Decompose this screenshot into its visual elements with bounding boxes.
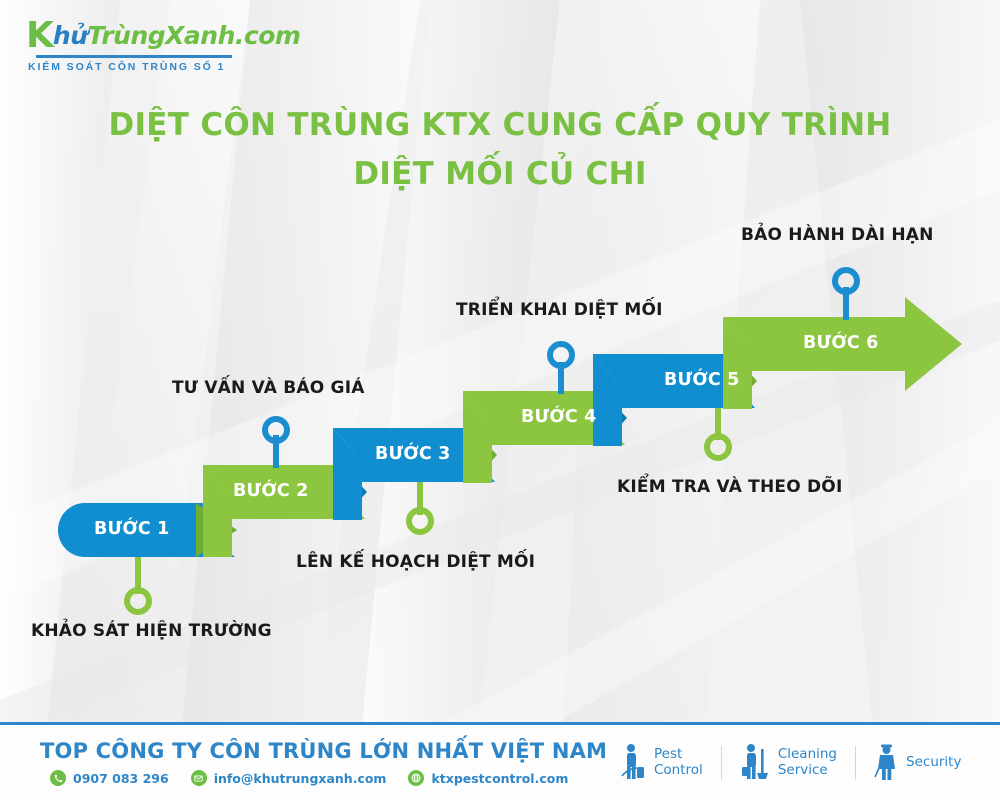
contact-phone[interactable]: 0907 083 296 bbox=[50, 770, 169, 786]
title-line-1: DIỆT CÔN TRÙNG KTX CUNG CẤP QUY TRÌNH bbox=[0, 101, 1000, 150]
title-line-2: DIỆT MỐI CỦ CHI bbox=[0, 150, 1000, 199]
footer-bar: TOP CÔNG TY CÔN TRÙNG LỚN NHẤT VIỆT NAM … bbox=[0, 722, 1000, 800]
footer-left-block: TOP CÔNG TY CÔN TRÙNG LỚN NHẤT VIỆT NAM … bbox=[0, 739, 600, 786]
step-6-pin bbox=[835, 270, 857, 320]
logo-letter-k: K bbox=[26, 15, 53, 56]
step-2-pin bbox=[265, 419, 287, 468]
security-label: Security bbox=[906, 755, 961, 771]
contact-website[interactable]: ktxpestcontrol.com bbox=[408, 770, 568, 786]
logo-part-hu: hử bbox=[53, 21, 88, 50]
logo-tagline: KIỂM SOÁT CÔN TRÙNG SỐ 1 bbox=[28, 61, 300, 73]
service-cleaning[interactable]: CleaningService bbox=[722, 743, 855, 783]
step-5-caption: KIỂM TRA VÀ THEO DÕI bbox=[617, 477, 842, 497]
contact-email[interactable]: info@khutrungxanh.com bbox=[191, 770, 387, 786]
step-5-pin bbox=[707, 408, 729, 458]
step-2-label: BƯỚC 2 bbox=[233, 481, 309, 501]
website-url: ktxpestcontrol.com bbox=[431, 771, 568, 786]
security-icon bbox=[874, 743, 900, 783]
footer-contacts: 0907 083 296 info@khutrungxanh.com ktxpe… bbox=[40, 770, 600, 786]
service-security[interactable]: Security bbox=[856, 743, 979, 783]
step-4-caption: TRIỂN KHAI DIỆT MỐI bbox=[456, 300, 663, 320]
cleaning-service-icon bbox=[740, 743, 772, 783]
brand-logo[interactable]: KhửTrùngXanh.com KIỂM SOÁT CÔN TRÙNG SỐ … bbox=[26, 18, 300, 73]
globe-icon bbox=[408, 770, 424, 786]
logo-part-xanh: Xanh.com bbox=[165, 21, 300, 50]
step-1-pin bbox=[127, 557, 149, 612]
email-address: info@khutrungxanh.com bbox=[214, 771, 387, 786]
pest-control-icon bbox=[618, 743, 648, 783]
step-1-label: BƯỚC 1 bbox=[94, 519, 170, 539]
cleaning-service-label: CleaningService bbox=[778, 747, 837, 779]
step-6-caption: BẢO HÀNH DÀI HẠN bbox=[741, 225, 934, 245]
page-title: DIỆT CÔN TRÙNG KTX CUNG CẤP QUY TRÌNH DI… bbox=[0, 101, 1000, 199]
pest-control-label: PestControl bbox=[654, 747, 703, 779]
footer-headline: TOP CÔNG TY CÔN TRÙNG LỚN NHẤT VIỆT NAM bbox=[40, 739, 600, 763]
step-4-label: BƯỚC 4 bbox=[521, 407, 597, 427]
envelope-icon bbox=[191, 770, 207, 786]
logo-part-trung: Trùng bbox=[88, 21, 166, 50]
step-3-caption: LÊN KẾ HOẠCH DIỆT MỐI bbox=[296, 552, 535, 572]
service-pest-control[interactable]: PestControl bbox=[600, 743, 721, 783]
phone-number: 0907 083 296 bbox=[73, 771, 169, 786]
logo-wordmark: KhửTrùngXanh.com bbox=[26, 18, 300, 54]
step-2-caption: TƯ VẤN VÀ BÁO GIÁ bbox=[172, 378, 365, 398]
step-5-label: BƯỚC 5 bbox=[664, 370, 740, 390]
phone-icon bbox=[50, 770, 66, 786]
logo-underline bbox=[36, 55, 232, 58]
step-4-pin bbox=[550, 344, 572, 394]
step-3-label: BƯỚC 3 bbox=[375, 444, 451, 464]
step-3-pin bbox=[409, 482, 431, 532]
step-6-label: BƯỚC 6 bbox=[803, 333, 879, 353]
step-1-caption: KHẢO SÁT HIỆN TRƯỜNG bbox=[31, 621, 272, 641]
footer-services: PestControl CleaningService bbox=[600, 743, 1000, 783]
